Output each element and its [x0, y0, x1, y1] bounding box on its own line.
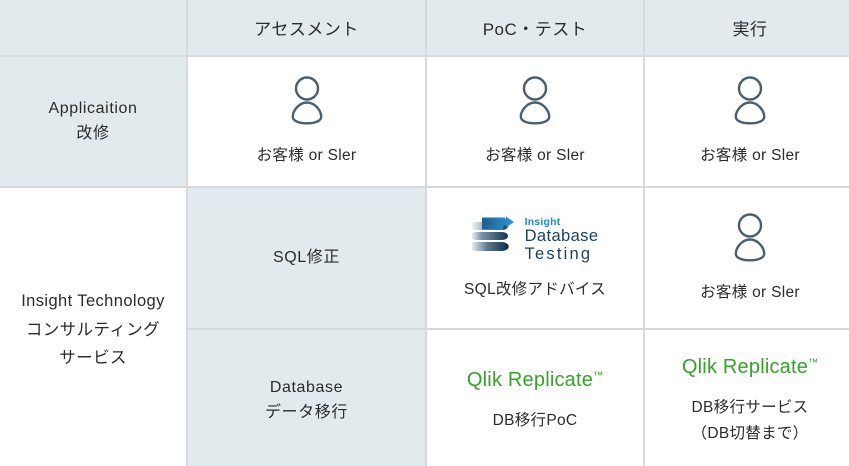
cell-label: お客様 or Sler: [700, 281, 800, 304]
logo-wordmark: Insight Database Testing: [525, 217, 599, 263]
trademark-symbol: ™: [808, 358, 818, 369]
column-header-assessment: アセスメント: [188, 0, 425, 55]
logo-testing-text: Testing: [525, 246, 593, 263]
person-icon: [729, 75, 771, 130]
cell-sql-poc: Insight Database Testing SQL改修アドバイス: [427, 188, 643, 328]
capability-matrix-table: アセスメント PoC・テスト 実行 Applicaition 改修 お客様 or…: [0, 0, 849, 466]
trademark-symbol: ™: [593, 370, 603, 381]
person-icon: [286, 75, 328, 130]
row-header-label: Applicaition 改修: [48, 97, 137, 147]
cell-application-assessment: お客様 or Sler: [188, 57, 425, 186]
cell-label: DB移行PoC: [493, 408, 578, 433]
cell-database-execution: Qlik Replicate™ DB移行サービス （DB切替まで）: [645, 330, 849, 466]
cell-application-execution: お客様 or Sler: [645, 57, 849, 186]
qlik-product-name: Qlik Replicate: [467, 369, 593, 391]
qlik-replicate-wordmark: Qlik Replicate™: [467, 369, 603, 392]
row-header-label: Database データ移行: [265, 376, 348, 426]
row-header-sql-modification: SQL修正: [188, 188, 425, 328]
cell-label: DB移行サービス （DB切替まで）: [692, 395, 809, 445]
cell-consulting-service-merged: Insight Technology コンサルティング サービス: [0, 188, 186, 466]
consulting-service-label: Insight Technology コンサルティング サービス: [21, 287, 165, 374]
column-header-label: 実行: [733, 15, 768, 40]
cell-database-poc: Qlik Replicate™ DB移行PoC: [427, 330, 643, 466]
qlik-product-name: Qlik Replicate: [682, 356, 808, 378]
logo-insight-text: Insight: [525, 217, 561, 228]
cell-label: お客様 or Sler: [485, 144, 585, 167]
cell-label: お客様 or Sler: [257, 144, 357, 167]
row-header-database-data-migration: Database データ移行: [188, 330, 425, 466]
person-icon: [729, 212, 771, 267]
cell-sql-execution: お客様 or Sler: [645, 188, 849, 328]
row-header-label: SQL修正: [273, 246, 340, 271]
cell-label: お客様 or Sler: [700, 144, 800, 167]
row-header-application-modification: Applicaition 改修: [0, 57, 186, 186]
person-icon: [514, 75, 556, 130]
qlik-replicate-wordmark: Qlik Replicate™: [682, 356, 818, 379]
column-header-execution: 実行: [645, 0, 849, 55]
cell-application-poc: お客様 or Sler: [427, 57, 643, 186]
cell-label: SQL改修アドバイス: [464, 278, 606, 301]
column-header-poc-test: PoC・テスト: [427, 0, 643, 55]
table-corner-cell: [0, 0, 186, 55]
database-cylinder-icon: [472, 215, 520, 264]
insight-database-testing-logo: Insight Database Testing: [472, 215, 599, 264]
column-header-label: アセスメント: [254, 15, 359, 40]
logo-database-text: Database: [525, 228, 599, 245]
column-header-label: PoC・テスト: [483, 15, 588, 40]
